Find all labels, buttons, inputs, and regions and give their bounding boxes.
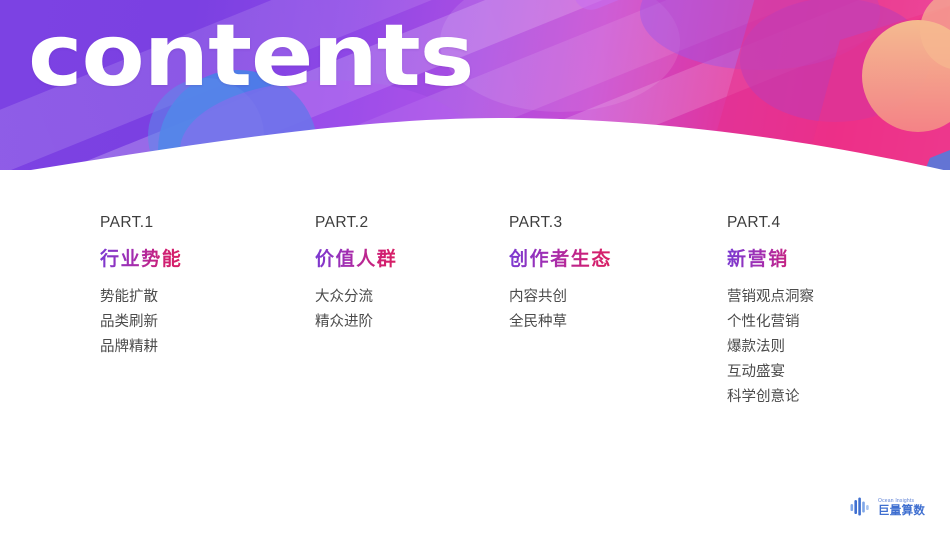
list-item[interactable]: 品类刷新 bbox=[100, 310, 182, 335]
brand-logo: Ocean Insights 巨量算数 bbox=[848, 492, 944, 522]
list-item[interactable]: 大众分流 bbox=[315, 285, 397, 310]
list-item[interactable]: 爆款法则 bbox=[727, 335, 814, 360]
contents-column-1: PART.1 行业势能 势能扩散 品类刷新 品牌精耕 bbox=[100, 214, 182, 360]
part-title-3[interactable]: 创作者生态 bbox=[509, 247, 612, 271]
list-item[interactable]: 势能扩散 bbox=[100, 285, 182, 310]
list-item[interactable]: 品牌精耕 bbox=[100, 335, 182, 360]
part-label-2: PART.2 bbox=[315, 214, 397, 232]
list-item[interactable]: 科学创意论 bbox=[727, 385, 814, 410]
contents-columns: PART.1 行业势能 势能扩散 品类刷新 品牌精耕 PART.2 价值人群 大… bbox=[0, 214, 950, 444]
part-items-1: 势能扩散 品类刷新 品牌精耕 bbox=[100, 285, 182, 360]
list-item[interactable]: 精众进阶 bbox=[315, 310, 397, 335]
part-label-4: PART.4 bbox=[727, 214, 814, 232]
page-title: contents bbox=[28, 13, 473, 99]
part-title-1[interactable]: 行业势能 bbox=[100, 247, 182, 271]
logo-text-block: Ocean Insights 巨量算数 bbox=[878, 498, 925, 517]
contents-column-2: PART.2 价值人群 大众分流 精众进阶 bbox=[315, 214, 397, 335]
list-item[interactable]: 全民种草 bbox=[509, 310, 612, 335]
list-item[interactable]: 互动盛宴 bbox=[727, 360, 814, 385]
part-title-4[interactable]: 新营销 bbox=[727, 247, 814, 271]
header-banner: contents bbox=[0, 0, 950, 170]
part-label-3: PART.3 bbox=[509, 214, 612, 232]
list-item[interactable]: 营销观点洞察 bbox=[727, 285, 814, 310]
contents-column-3: PART.3 创作者生态 内容共创 全民种草 bbox=[509, 214, 612, 335]
contents-column-4: PART.4 新营销 营销观点洞察 个性化营销 爆款法则 互动盛宴 科学创意论 bbox=[727, 214, 814, 410]
part-items-3: 内容共创 全民种草 bbox=[509, 285, 612, 335]
part-title-2[interactable]: 价值人群 bbox=[315, 247, 397, 271]
part-items-4: 营销观点洞察 个性化营销 爆款法则 互动盛宴 科学创意论 bbox=[727, 285, 814, 410]
part-label-1: PART.1 bbox=[100, 214, 182, 232]
list-item[interactable]: 个性化营销 bbox=[727, 310, 814, 335]
slide-contents: contents PART.1 行业势能 势能扩散 品类刷新 品牌精耕 PART… bbox=[0, 0, 950, 535]
list-item[interactable]: 内容共创 bbox=[509, 285, 612, 310]
logo-chinese-name: 巨量算数 bbox=[878, 504, 925, 517]
bar-chart-logo-icon bbox=[848, 495, 872, 519]
part-items-2: 大众分流 精众进阶 bbox=[315, 285, 397, 335]
